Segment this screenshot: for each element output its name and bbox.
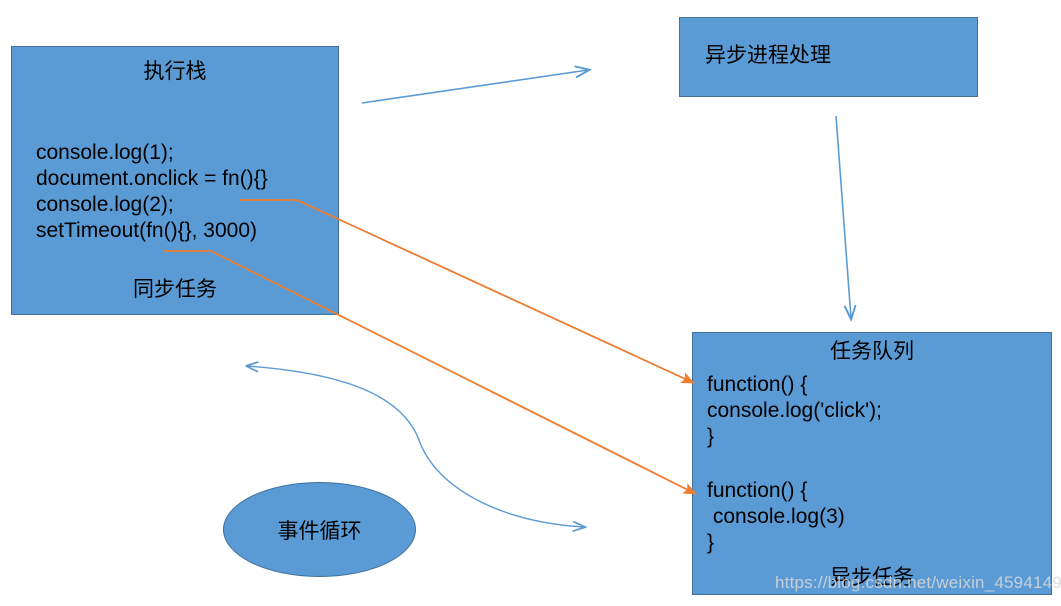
diagram-canvas: 执行栈 console.log(1); document.onclick = f…: [0, 0, 1061, 606]
task-queue-title: 任务队列: [693, 340, 1051, 363]
csdn-watermark: https://blog.csdn.net/weixin_45941499: [775, 573, 1061, 593]
execution-stack-footer-label: 同步任务: [12, 278, 338, 301]
connector-exec-to-async: [362, 70, 588, 103]
event-loop-label: 事件循环: [278, 515, 362, 545]
execution-stack-title: 执行栈: [12, 60, 338, 83]
event-loop-ellipse[interactable]: 事件循环: [223, 482, 416, 577]
async-process-title: 异步进程处理: [680, 44, 977, 67]
execution-stack-code: console.log(1); document.onclick = fn(){…: [36, 140, 268, 244]
connector-async-to-queue: [836, 116, 851, 318]
task-queue-box[interactable]: 任务队列 function() { console.log('click'); …: [692, 332, 1052, 595]
execution-stack-box[interactable]: 执行栈 console.log(1); document.onclick = f…: [11, 46, 339, 315]
task-queue-code-second: function() { console.log(3) }: [707, 478, 845, 556]
task-queue-code-first: function() { console.log('click'); }: [707, 372, 882, 450]
async-process-box[interactable]: 异步进程处理: [679, 17, 978, 97]
